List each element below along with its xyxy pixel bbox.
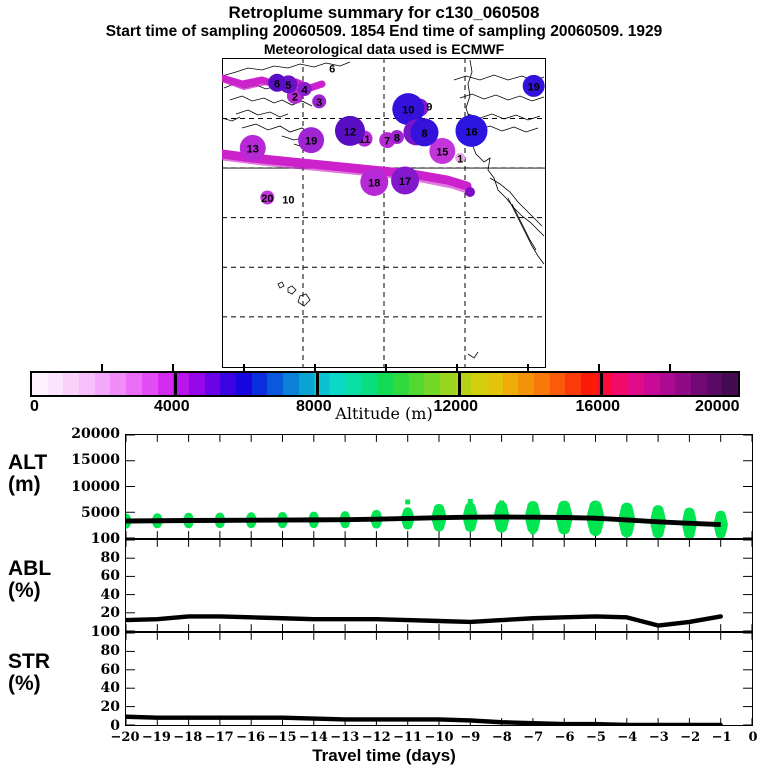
xtick-label: −20 <box>111 730 140 745</box>
retroplume-summary-figure: Retroplume summary for c130_060508 Start… <box>0 0 768 768</box>
colorbar-swatch <box>205 373 221 395</box>
alt-scatter-outlier <box>499 501 504 506</box>
xtick-label: −6 <box>555 730 575 745</box>
panel-abl-canvas <box>126 540 752 631</box>
colorbar-tick <box>669 364 671 371</box>
ytick-label: 100 <box>40 531 120 547</box>
colorbar-tick <box>243 364 245 371</box>
timeseries-panels <box>125 434 753 726</box>
colorbar-swatch <box>487 373 503 395</box>
colorbar-swatch <box>283 373 299 395</box>
map-centroid-label: 19 <box>528 81 540 93</box>
map-centroid-label: 19 <box>305 136 317 148</box>
colorbar-swatch <box>189 373 205 395</box>
xtick-label: −13 <box>330 730 359 745</box>
alt-scatter-marker <box>652 505 663 516</box>
colorbar-swatch <box>660 373 676 395</box>
colorbar-swatch <box>393 373 409 395</box>
altitude-colorbar: 040008000120001600020000 <box>30 371 740 397</box>
map-centroid-markers: 12345678910111213141516171819201968109 <box>240 63 545 206</box>
sampling-time-title: Start time of sampling 20060509. 1854 En… <box>0 23 768 41</box>
alt-scatter-outlier <box>530 529 535 534</box>
colorbar-swatch <box>409 373 425 395</box>
xtick-label: −5 <box>586 730 606 745</box>
ytick-label: 60 <box>40 568 120 584</box>
ytick-label: 80 <box>40 643 120 659</box>
map-centroid-label: 9 <box>426 102 432 114</box>
colorbar-swatch <box>440 373 456 395</box>
alt-scatter-outlier <box>468 499 473 504</box>
colorbar-swatch <box>220 373 236 395</box>
map-centroid-label: 7 <box>384 136 390 148</box>
alt-scatter-marker <box>716 511 726 520</box>
colorbar-caption: Altitude (m) <box>0 404 768 423</box>
map-centroid-label: 8 <box>421 128 427 140</box>
panel-str[interactable] <box>125 632 753 726</box>
map-centroid-label: 6 <box>274 78 280 90</box>
colorbar-swatch <box>675 373 691 395</box>
xtick-label: −7 <box>523 730 543 745</box>
xaxis-title: Travel time (days) <box>0 746 768 766</box>
retroplume-map[interactable]: 12345678910111213141516171819201968109 <box>222 58 546 368</box>
xtick-labels: −20−19−18−17−16−15−14−13−12−11−10−9−8−7−… <box>125 730 753 746</box>
colorbar-swatch <box>63 373 79 395</box>
colorbar-swatch <box>581 373 597 395</box>
colorbar-swatch <box>142 373 158 395</box>
map-coastlines <box>222 60 544 358</box>
colorbar-tick <box>172 364 174 371</box>
xtick-label: −11 <box>393 730 422 745</box>
alt-scatter-marker <box>558 501 570 512</box>
ytick-label: 20000 <box>40 426 120 442</box>
map-centroid-label: 16 <box>465 126 477 138</box>
xtick-label: −3 <box>649 730 669 745</box>
colorbar-swatch <box>534 373 550 395</box>
alt-scatter-marker <box>621 503 633 514</box>
xtick-label: −15 <box>268 730 297 745</box>
colorbar-tick <box>385 364 387 371</box>
colorbar-tick <box>314 364 316 371</box>
ytick-label: 100 <box>40 624 120 640</box>
str-line <box>126 717 721 725</box>
ytick-label: 10000 <box>40 479 120 495</box>
colorbar-tick <box>456 364 458 371</box>
colorbar-ticks <box>30 364 740 371</box>
colorbar-divider <box>600 373 603 395</box>
colorbar-swatch <box>48 373 64 395</box>
colorbar-swatch <box>691 373 707 395</box>
alt-scatter-outlier <box>593 531 598 536</box>
colorbar-gradient <box>30 371 740 397</box>
xtick-label: −12 <box>362 730 391 745</box>
ytick-label: 60 <box>40 662 120 678</box>
xtick-label: 0 <box>748 730 757 745</box>
colorbar-tick <box>101 364 103 371</box>
map-centroid-label: 13 <box>247 143 259 155</box>
met-data-title: Meteorological data used is ECMWF <box>0 41 768 58</box>
map-centroid-label: 8 <box>394 133 400 145</box>
xtick-label: −1 <box>712 730 732 745</box>
plume-sampling-endpoint <box>465 187 475 197</box>
panel-alt[interactable] <box>125 434 753 539</box>
colorbar-tick <box>527 364 529 371</box>
colorbar-swatch <box>471 373 487 395</box>
colorbar-swatch <box>236 373 252 395</box>
xtick-label: −8 <box>492 730 512 745</box>
xtick-label: −9 <box>460 730 480 745</box>
figure-title: Retroplume summary for c130_060508 <box>0 3 768 23</box>
colorbar-swatch <box>550 373 566 395</box>
colorbar-swatch <box>158 373 174 395</box>
xtick-label: −14 <box>299 730 328 745</box>
colorbar-swatch <box>79 373 95 395</box>
panel-abl[interactable] <box>125 539 753 632</box>
ytick-label: 40 <box>40 587 120 603</box>
colorbar-swatch <box>330 373 346 395</box>
colorbar-swatch <box>503 373 519 395</box>
panel-str-canvas <box>126 633 752 725</box>
colorbar-swatch <box>518 373 534 395</box>
xtick-label: −2 <box>680 730 700 745</box>
map-centroid-label: 5 <box>285 80 291 92</box>
map-centroid-label: 12 <box>344 126 356 138</box>
colorbar-swatch <box>95 373 111 395</box>
colorbar-divider <box>458 373 461 395</box>
colorbar-swatch <box>110 373 126 395</box>
colorbar-swatch <box>565 373 581 395</box>
alt-scatter-marker <box>434 504 445 514</box>
ytick-label: 5000 <box>40 505 120 521</box>
colorbar-swatch <box>361 373 377 395</box>
xtick-label: −18 <box>173 730 202 745</box>
map-centroid-label: 2 <box>292 91 298 103</box>
ytick-label: 40 <box>40 680 120 696</box>
map-centroid-label: 4 <box>302 85 309 97</box>
panel-alt-canvas <box>126 435 752 538</box>
alt-scatter-marker <box>589 501 601 513</box>
colorbar-swatch <box>377 373 393 395</box>
map-gridlines <box>222 58 546 368</box>
xtick-label: −17 <box>205 730 234 745</box>
colorbar-swatch <box>707 373 723 395</box>
map-centroid-label: 15 <box>436 147 448 159</box>
xtick-label: −19 <box>142 730 171 745</box>
colorbar-swatch <box>644 373 660 395</box>
map-canvas: 12345678910111213141516171819201968109 <box>222 58 546 368</box>
ytick-label: 15000 <box>40 452 120 468</box>
alt-scatter-marker <box>684 508 695 518</box>
map-centroid-label: 1 <box>457 153 463 165</box>
map-centroid-label: 17 <box>399 176 411 188</box>
colorbar-swatch <box>612 373 628 395</box>
colorbar-swatch <box>628 373 644 395</box>
map-centroid-label: 20 <box>261 193 273 205</box>
colorbar-swatch <box>267 373 283 395</box>
map-centroid-label: 6 <box>329 63 335 75</box>
colorbar-divider <box>174 373 177 395</box>
ytick-label: 0 <box>40 718 120 734</box>
colorbar-divider <box>316 373 319 395</box>
colorbar-tick <box>598 364 600 371</box>
colorbar-swatch <box>32 373 48 395</box>
map-centroid-label: 18 <box>368 178 380 190</box>
alt-scatter-marker <box>527 501 538 512</box>
colorbar-swatch <box>346 373 362 395</box>
alt-scatter-outlier <box>437 526 442 531</box>
map-centroid-label: 10 <box>282 195 294 207</box>
colorbar-swatch <box>252 373 268 395</box>
ytick-label: 20 <box>40 605 120 621</box>
title-block: Retroplume summary for c130_060508 Start… <box>0 0 768 58</box>
xtick-label: −4 <box>617 730 637 745</box>
abl-line <box>126 616 721 625</box>
alt-scatter-marker <box>403 507 413 516</box>
ytick-label: 80 <box>40 550 120 566</box>
colorbar-swatch <box>299 373 315 395</box>
ytick-label: 20 <box>40 699 120 715</box>
xtick-label: −16 <box>236 730 265 745</box>
colorbar-swatch <box>424 373 440 395</box>
colorbar-swatch <box>722 373 738 395</box>
alt-scatter-outlier <box>405 499 410 504</box>
xtick-label: −10 <box>425 730 454 745</box>
map-centroid-label: 3 <box>316 97 322 109</box>
colorbar-swatch <box>126 373 142 395</box>
map-centroid-label: 10 <box>402 105 414 117</box>
